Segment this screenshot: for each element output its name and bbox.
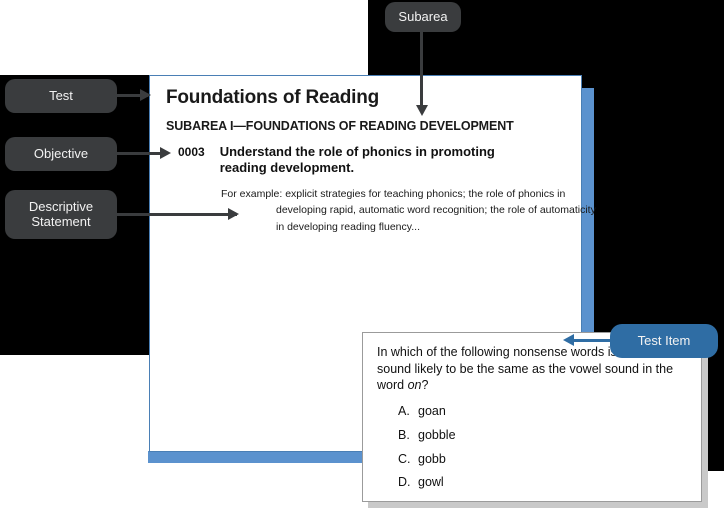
arrow-down-icon xyxy=(416,105,428,116)
callout-test: Test xyxy=(5,79,117,113)
objective-code: 0003 xyxy=(178,144,205,159)
arrow-left-icon xyxy=(563,334,574,346)
option-b-letter: B. xyxy=(398,429,418,443)
descriptive-statement-body: explicit strategies for teaching phonics… xyxy=(276,188,596,233)
objective-row: 0003 Understand the role of phonics in p… xyxy=(178,144,568,176)
test-item-stem-part2: ? xyxy=(421,378,428,392)
arrow-right-icon xyxy=(228,208,239,220)
option-a[interactable]: A. goan xyxy=(398,405,658,419)
arrow-objective-line xyxy=(112,152,167,155)
option-d[interactable]: D. gowl xyxy=(398,476,658,490)
callout-descriptive-statement-label: Descriptive Statement xyxy=(29,200,93,230)
descriptive-statement-prefix: For example: xyxy=(221,188,282,200)
option-c-letter: C. xyxy=(398,453,418,467)
option-a-text: goan xyxy=(418,405,658,419)
subarea-heading: SUBAREA I—FOUNDATIONS OF READING DEVELOP… xyxy=(166,119,514,133)
option-b-text: gobble xyxy=(418,429,658,443)
callout-objective-label: Objective xyxy=(34,147,88,162)
callout-subarea: Subarea xyxy=(385,2,461,32)
callout-descriptive-statement: Descriptive Statement xyxy=(5,190,117,239)
option-d-text: gowl xyxy=(418,476,658,490)
arrow-right-icon xyxy=(160,147,171,159)
callout-descriptive-statement-line1: Descriptive xyxy=(29,199,93,214)
document-panel: Foundations of Reading SUBAREA I—FOUNDAT… xyxy=(149,75,582,452)
arrow-subarea-line xyxy=(420,30,423,108)
objective-text: Understand the role of phonics in promot… xyxy=(220,144,510,176)
page-title: Foundations of Reading xyxy=(166,87,379,109)
option-b[interactable]: B. gobble xyxy=(398,429,658,443)
option-c-text: gobb xyxy=(418,453,658,467)
callout-subarea-label: Subarea xyxy=(398,10,447,25)
callout-objective: Objective xyxy=(5,137,117,171)
callout-test-item-label: Test Item xyxy=(638,334,691,349)
callout-test-label: Test xyxy=(49,89,73,104)
arrow-descriptive-line xyxy=(112,213,237,216)
option-c[interactable]: C. gobb xyxy=(398,453,658,467)
test-item-stem-italic-word: on xyxy=(408,378,422,392)
descriptive-statement: For example: explicit strategies for tea… xyxy=(221,186,596,235)
test-item-options: A. goan B. gobble C. gobb D. gowl xyxy=(398,405,658,500)
document-content: Foundations of Reading SUBAREA I—FOUNDAT… xyxy=(150,76,581,451)
option-d-letter: D. xyxy=(398,476,418,490)
option-a-letter: A. xyxy=(398,405,418,419)
arrow-test-item-line xyxy=(570,339,615,342)
callout-descriptive-statement-line2: Statement xyxy=(31,214,90,229)
arrow-right-icon xyxy=(140,89,151,101)
callout-test-item: Test Item xyxy=(610,324,718,358)
